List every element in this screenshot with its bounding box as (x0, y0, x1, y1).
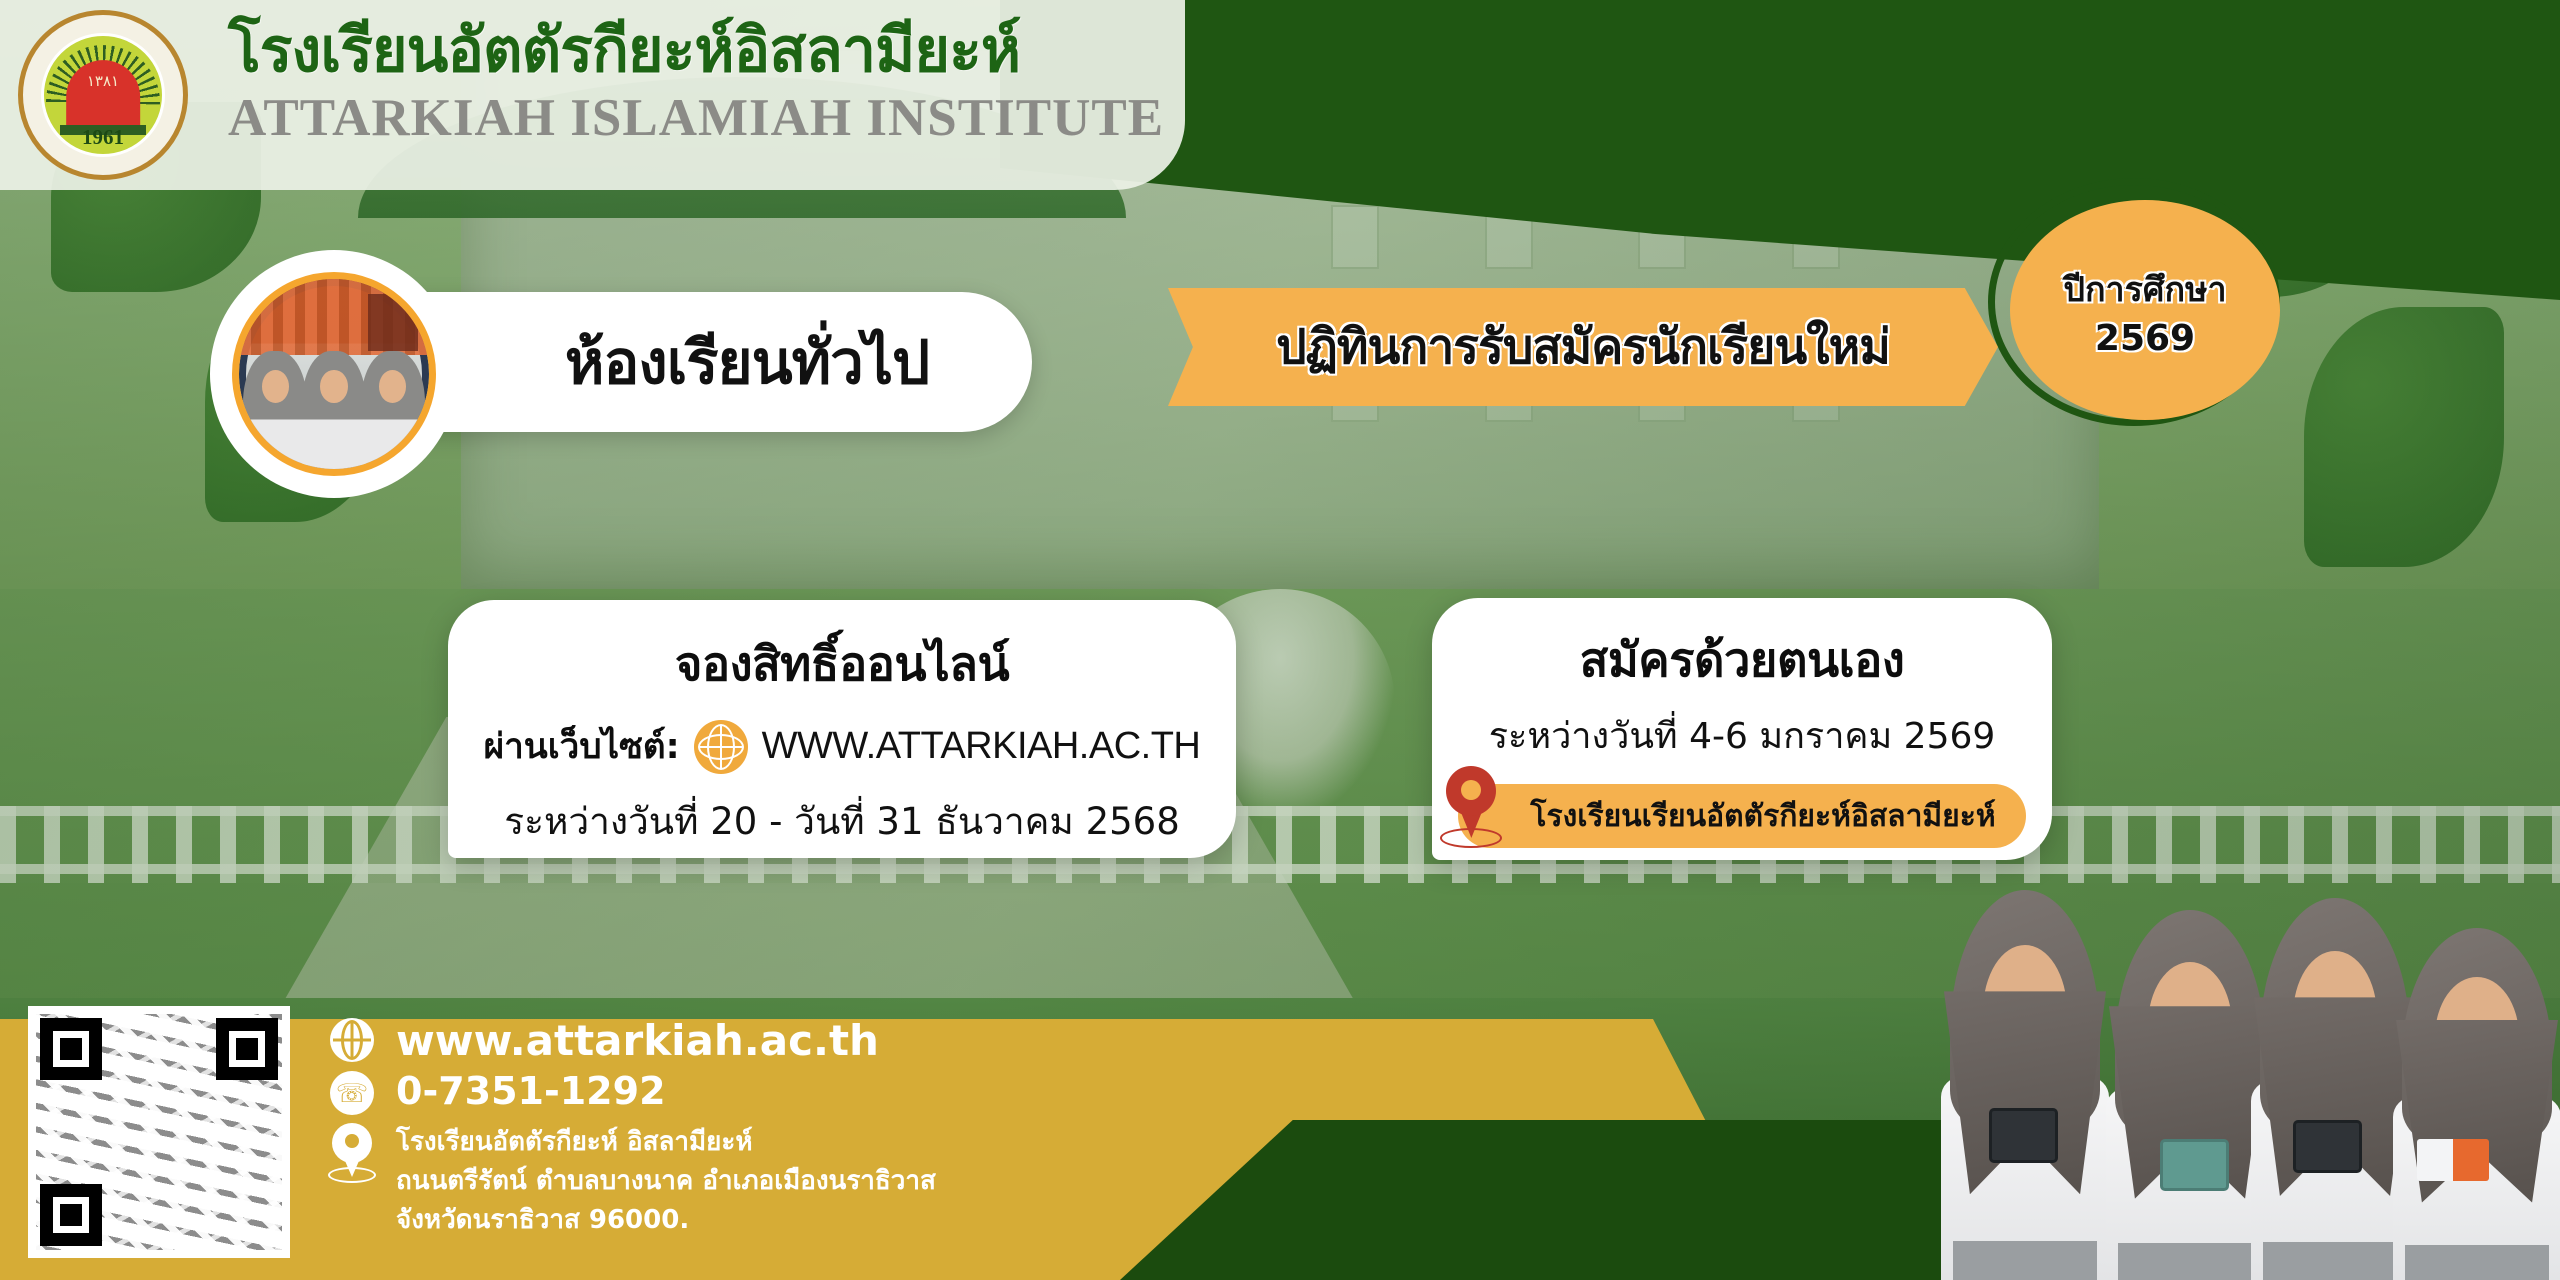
qr-code-pattern (36, 1014, 282, 1250)
tablet-device (1989, 1108, 2058, 1163)
footer-address-line2: ถนนตรีรัตน์ ตำบลบางนาค อำเภอเมืองนราธิวา… (396, 1166, 936, 1196)
admission-calendar-banner: ปฏิทินการรับสมัครนักเรียนใหม่ (1168, 288, 1998, 406)
onsite-application-card: สมัครด้วยตนเอง ระหว่างวันที่ 4-6 มกราคม … (1432, 598, 2052, 860)
phone-icon: ☏ (330, 1071, 374, 1115)
portrait-board (368, 294, 417, 351)
portrait-student (302, 351, 367, 469)
admission-calendar-label: ปฏิทินการรับสมัครนักเรียนใหม่ (1276, 309, 1890, 385)
logo-founded-year: 1961 (82, 125, 124, 150)
students-portrait-photo (232, 272, 436, 476)
globe-icon (330, 1018, 374, 1062)
tablet-device (2293, 1120, 2362, 1173)
qr-finder-bottom-left (40, 1184, 102, 1246)
student-skirt (2405, 1245, 2549, 1280)
tablet-case (2160, 1139, 2229, 1191)
qr-finder-top-right (216, 1018, 278, 1080)
qr-code[interactable] (28, 1006, 290, 1258)
onsite-application-dates: ระหว่างวันที่ 4-6 มกราคม 2569 (1489, 707, 1996, 764)
school-logo: ١٣٨١ 1961 (18, 10, 188, 180)
onsite-location-pill[interactable]: โรงเรียนเรียนอัตตัรกียะห์อิสลามียะห์ (1458, 784, 2025, 848)
student-skirt (2263, 1242, 2407, 1280)
academic-year-value: 2569 (2095, 318, 2195, 359)
student-figure (2402, 928, 2552, 1280)
footer-phone-row[interactable]: ☏ 0-7351-1292 (330, 1071, 936, 1115)
portrait-face (262, 370, 289, 403)
qr-finder-top-left (40, 1018, 102, 1080)
footer-address-line1: โรงเรียนอัตตัรกียะห์ อิสลามียะห์ (396, 1127, 752, 1157)
academic-year-label: ปีการศึกษา (2063, 262, 2226, 316)
footer-address: โรงเรียนอัตตัรกียะห์ อิสลามียะห์ ถนนตรีร… (396, 1123, 936, 1240)
onsite-location-label: โรงเรียนเรียนอัตตัรกียะห์อิสลามียะห์ (1530, 793, 1995, 840)
online-booking-website-row: ผ่านเว็บไซต์: WWW.ATTARKIAH.AC.TH (484, 719, 1201, 774)
footer-phone: 0-7351-1292 (396, 1071, 666, 1112)
student-skirt (1953, 1241, 2097, 1280)
portrait-face (320, 370, 347, 403)
portrait-student (243, 351, 308, 469)
student-figure (2115, 910, 2265, 1280)
globe-icon (694, 720, 748, 774)
admission-poster: ١٣٨١ 1961 โรงเรียนอัตตัรกียะห์อิสลามียะห… (0, 0, 2560, 1280)
online-booking-card: จองสิทธิ์ออนไลน์ ผ่านเว็บไซต์: WWW.ATTAR… (448, 600, 1236, 858)
footer-address-row: โรงเรียนอัตตัรกียะห์ อิสลามียะห์ ถนนตรีร… (330, 1123, 936, 1240)
portrait-student (361, 351, 426, 469)
academic-year-badge: ปีการศึกษา 2569 (2010, 200, 2280, 420)
student-figure (2260, 898, 2410, 1280)
student-skirt (2118, 1243, 2262, 1280)
portrait-face (379, 370, 406, 403)
website-url[interactable]: WWW.ATTARKIAH.AC.TH (762, 725, 1201, 768)
open-book (2417, 1139, 2489, 1181)
classroom-type-label: ห้องเรียนทั่วไป (425, 315, 929, 410)
footer-website: www.attarkiah.ac.th (396, 1018, 879, 1063)
online-booking-dates: ระหว่างวันที่ 20 - วันที่ 31 ธันวาคม 256… (504, 792, 1180, 851)
map-pin-icon (1440, 766, 1502, 848)
logo-arabic-year: ١٣٨١ (87, 72, 119, 90)
page-title-en: ATTARKIAH ISLAMIAH INSTITUTE (228, 92, 1164, 145)
footer-address-line3: จังหวัดนราธิวาส 96000. (396, 1205, 689, 1235)
online-booking-title: จองสิทธิ์ออนไลน์ (675, 626, 1009, 701)
footer-contact-block: www.attarkiah.ac.th ☏ 0-7351-1292 โรงเรี… (330, 1018, 936, 1248)
logo-emblem: ١٣٨١ 1961 (41, 33, 166, 158)
page-title-th: โรงเรียนอัตตัรกียะห์อิสลามียะห์ (228, 18, 1020, 84)
footer-website-row[interactable]: www.attarkiah.ac.th (330, 1018, 936, 1063)
website-channel-label: ผ่านเว็บไซต์: (484, 719, 680, 774)
map-pin-icon (330, 1123, 374, 1181)
students-group-photo (1940, 850, 2560, 1280)
student-figure (1950, 890, 2100, 1280)
onsite-application-title: สมัครด้วยตนเอง (1580, 622, 1905, 697)
